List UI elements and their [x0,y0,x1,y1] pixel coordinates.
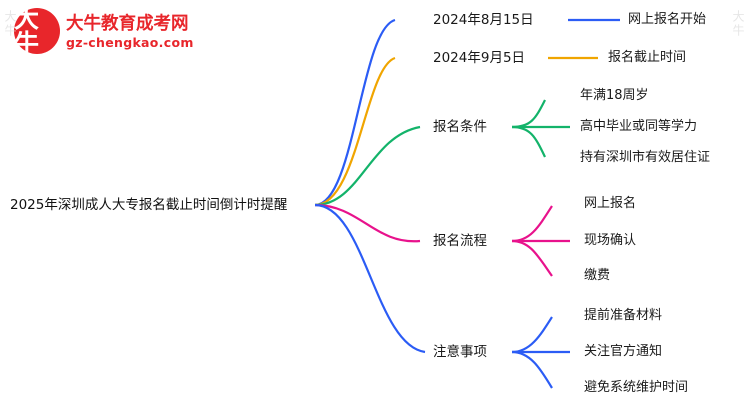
mindmap-leaf-5-3[interactable]: 避免系统维护时间 [584,380,688,396]
connector-branch-5-leaf-3 [512,352,552,388]
mindmap-leaf-5-1[interactable]: 提前准备材料 [584,308,662,324]
mindmap-leaf-3-3[interactable]: 持有深圳市有效居住证 [580,150,710,166]
site-logo[interactable]: 大牛 大牛教育成考网 gz-chengkao.com [14,6,204,62]
connector-branch-3-leaf-1 [512,100,545,127]
bull-mark-text: 大牛 [14,6,60,56]
watermark-left: 大牛 [2,10,19,38]
mindmap-leaf-2-1[interactable]: 报名截止时间 [608,50,686,66]
connector-root-branch-1 [315,20,395,205]
bull-mark-icon: 大牛 [14,8,60,54]
watermark-right: 大牛 [730,10,747,38]
mindmap-branch-3[interactable]: 报名条件 [433,119,487,135]
connector-branch-3-leaf-3 [512,127,545,157]
mindmap-leaf-4-3[interactable]: 缴费 [584,268,610,284]
mindmap-leaf-4-1[interactable]: 网上报名 [584,196,636,212]
logo-subtitle: gz-chengkao.com [66,35,194,50]
mindmap-branch-4[interactable]: 报名流程 [433,233,487,249]
connector-branch-5-leaf-1 [512,317,552,352]
mindmap-branch-1[interactable]: 2024年8月15日 [433,12,534,28]
mindmap-canvas: 大牛 大牛教育成考网 gz-chengkao.com 大牛 大牛 2025年深圳… [0,0,750,410]
mindmap-leaf-4-2[interactable]: 现场确认 [584,233,636,249]
mindmap-branch-5[interactable]: 注意事项 [433,344,487,360]
mindmap-root-node[interactable]: 2025年深圳成人大专报名截止时间倒计时提醒 [10,197,287,213]
logo-title: 大牛教育成考网 [66,10,189,35]
connector-branch-4-leaf-1 [512,206,552,241]
mindmap-leaf-5-2[interactable]: 关注官方通知 [584,344,662,360]
mindmap-leaf-3-2[interactable]: 高中毕业或同等学力 [580,119,697,135]
mindmap-leaf-3-1[interactable]: 年满18周岁 [580,88,649,104]
mindmap-branch-2[interactable]: 2024年9月5日 [433,50,525,66]
connector-branch-4-leaf-3 [512,241,552,276]
mindmap-leaf-1-1[interactable]: 网上报名开始 [628,12,706,28]
